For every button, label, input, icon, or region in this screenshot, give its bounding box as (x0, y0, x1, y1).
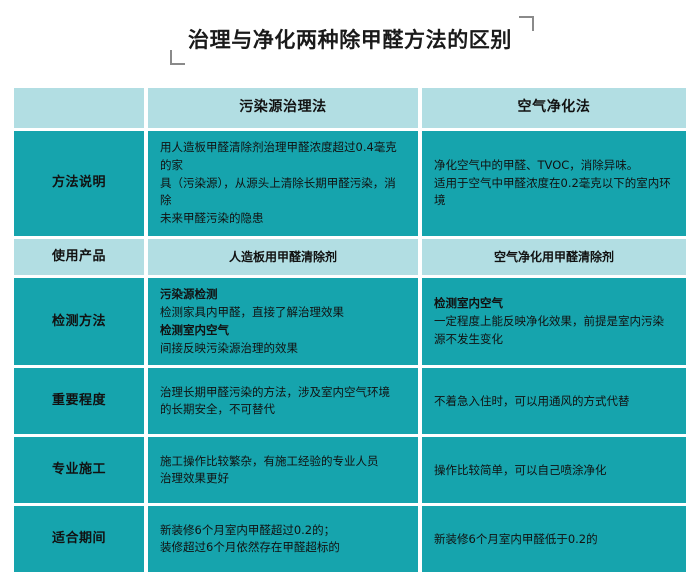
corner-bracket-bottom-left-icon (170, 50, 185, 65)
table-row: 重要程度治理长期甲醛污染的方法，涉及室内空气环境的长期安全，不可替代不着急入住时… (14, 368, 686, 434)
row-label-cell: 适合期间 (14, 506, 144, 572)
cell-line: 检测室内空气 (160, 322, 406, 340)
cell-method-b: 空气净化用甲醛清除剂 (422, 239, 686, 275)
cell-method-b: 净化空气中的甲醛、TVOC，消除异味。适用于空气中甲醛浓度在0.2毫克以下的室内… (422, 131, 686, 236)
cell-method-b: 检测室内空气一定程度上能反映净化效果，前提是室内污染源不发生变化 (422, 278, 686, 365)
cell-line: 施工操作比较繁杂，有施工经验的专业人员 (160, 453, 406, 471)
cell-line: 间接反映污染源治理的效果 (160, 340, 406, 358)
cell-line: 污染源检测 (160, 286, 406, 304)
cell-method-a: 污染源检测检测家具内甲醛，直接了解治理效果检测室内空气间接反映污染源治理的效果 (148, 278, 418, 365)
row-label-cell: 检测方法 (14, 278, 144, 365)
cell-method-a: 人造板用甲醛清除剂 (148, 239, 418, 275)
cell-line: 检测室内空气 (434, 295, 674, 313)
cell-line: 检测家具内甲醛，直接了解治理效果 (160, 304, 406, 322)
row-label-cell: 方法说明 (14, 131, 144, 236)
table-row: 适合期间新装修6个月室内甲醛超过0.2的；装修超过6个月依然存在甲醛超标的新装修… (14, 506, 686, 572)
cell-line: 适用于空气中甲醛浓度在0.2毫克以下的室内环境 (434, 175, 674, 211)
title-section: 治理与净化两种除甲醛方法的区别 (0, 0, 700, 82)
page-title: 治理与净化两种除甲醛方法的区别 (188, 28, 512, 53)
page-root: 治理与净化两种除甲醛方法的区别 污染源治理法 空气净化法 方法说明用人造板甲醛清… (0, 0, 700, 532)
table-row: 方法说明用人造板甲醛清除剂治理甲醛浓度超过0.4毫克的家具（污染源），从源头上清… (14, 131, 686, 236)
table-body: 方法说明用人造板甲醛清除剂治理甲醛浓度超过0.4毫克的家具（污染源），从源头上清… (14, 131, 686, 572)
table-header-row: 污染源治理法 空气净化法 (14, 88, 686, 128)
cell-line: 新装修6个月室内甲醛低于0.2的 (434, 531, 674, 549)
cell-line: 源不发生变化 (434, 331, 674, 349)
row-label-cell: 专业施工 (14, 437, 144, 503)
table-row: 使用产品人造板用甲醛清除剂空气净化用甲醛清除剂 (14, 239, 686, 275)
cell-method-a: 新装修6个月室内甲醛超过0.2的；装修超过6个月依然存在甲醛超标的 (148, 506, 418, 572)
table-row: 检测方法污染源检测检测家具内甲醛，直接了解治理效果检测室内空气间接反映污染源治理… (14, 278, 686, 365)
cell-line: 装修超过6个月依然存在甲醛超标的 (160, 539, 406, 557)
cell-line: 人造板用甲醛清除剂 (229, 248, 337, 267)
comparison-table: 污染源治理法 空气净化法 方法说明用人造板甲醛清除剂治理甲醛浓度超过0.4毫克的… (14, 88, 686, 575)
cell-method-a: 施工操作比较繁杂，有施工经验的专业人员治理效果更好 (148, 437, 418, 503)
header-cell-method-a: 污染源治理法 (148, 88, 418, 128)
row-label-cell: 使用产品 (14, 239, 144, 275)
header-cell-label (14, 88, 144, 128)
cell-line: 不着急入住时，可以用通风的方式代替 (434, 393, 674, 411)
corner-bracket-top-right-icon (519, 16, 534, 31)
cell-line: 用人造板甲醛清除剂治理甲醛浓度超过0.4毫克的家 (160, 139, 406, 175)
cell-line: 未来甲醛污染的隐患 (160, 210, 406, 228)
table-row: 专业施工施工操作比较繁杂，有施工经验的专业人员治理效果更好操作比较简单，可以自己… (14, 437, 686, 503)
cell-method-b: 操作比较简单，可以自己喷涂净化 (422, 437, 686, 503)
cell-line: 空气净化用甲醛清除剂 (494, 248, 614, 267)
cell-line: 治理效果更好 (160, 470, 406, 488)
cell-line: 新装修6个月室内甲醛超过0.2的； (160, 522, 406, 540)
cell-line: 具（污染源），从源头上清除长期甲醛污染，消除 (160, 175, 406, 211)
cell-method-b: 不着急入住时，可以用通风的方式代替 (422, 368, 686, 434)
title-inner: 治理与净化两种除甲醛方法的区别 (176, 28, 524, 53)
cell-method-a: 用人造板甲醛清除剂治理甲醛浓度超过0.4毫克的家具（污染源），从源头上清除长期甲… (148, 131, 418, 236)
cell-line: 治理长期甲醛污染的方法，涉及室内空气环境 (160, 384, 406, 402)
header-cell-method-b: 空气净化法 (422, 88, 686, 128)
cell-method-b: 新装修6个月室内甲醛低于0.2的 (422, 506, 686, 572)
cell-line: 的长期安全，不可替代 (160, 401, 406, 419)
cell-method-a: 治理长期甲醛污染的方法，涉及室内空气环境的长期安全，不可替代 (148, 368, 418, 434)
cell-line: 净化空气中的甲醛、TVOC，消除异味。 (434, 157, 674, 175)
cell-line: 一定程度上能反映净化效果，前提是室内污染 (434, 313, 674, 331)
row-label-cell: 重要程度 (14, 368, 144, 434)
cell-line: 操作比较简单，可以自己喷涂净化 (434, 462, 674, 480)
